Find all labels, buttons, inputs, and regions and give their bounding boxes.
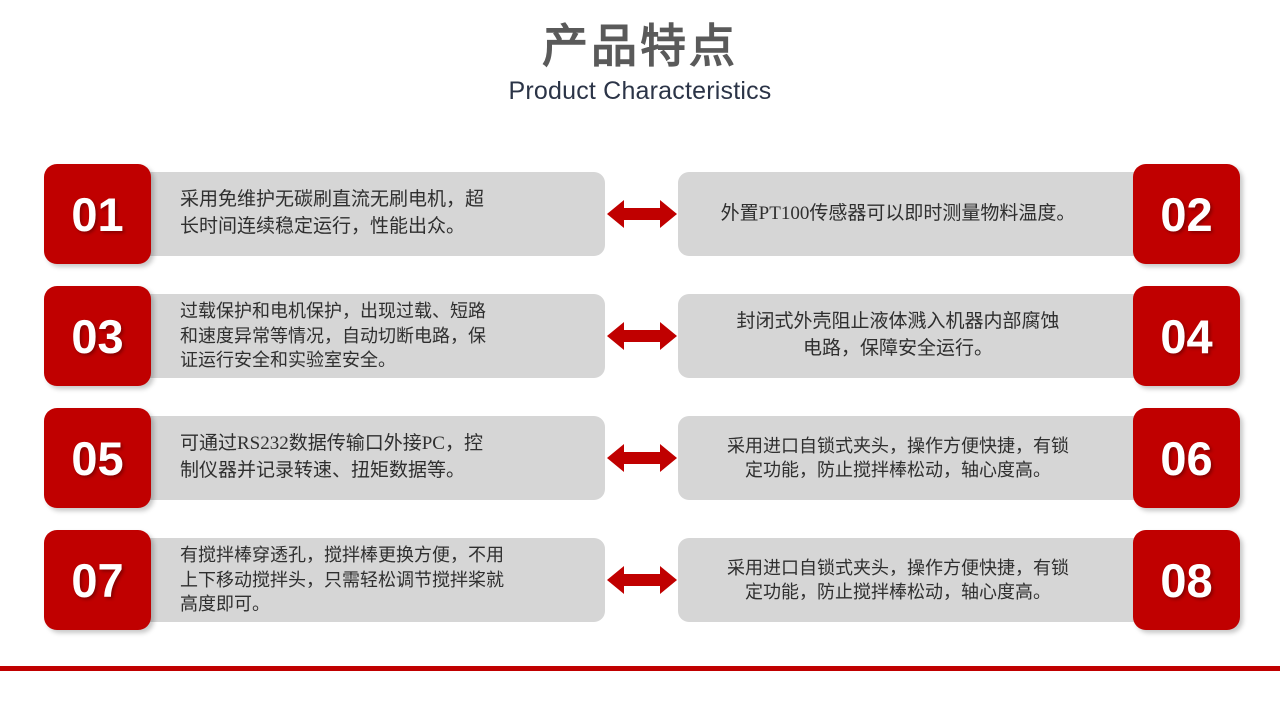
feature-card-03[interactable]: 过载保护和电机保护，出现过载、短路 和速度异常等情况，自动切断电路，保 证运行安…	[44, 286, 605, 386]
feature-card-07[interactable]: 有搅拌棒穿透孔，搅拌棒更换方便，不用 上下移动搅拌头，只需轻松调节搅拌桨就 高度…	[44, 530, 605, 630]
feature-number: 03	[71, 313, 123, 360]
feature-list: 采用免维护无碳刷直流无刷电机，超 长时间连续稳定运行，性能出众。 01 外置PT…	[0, 164, 1280, 652]
double-arrow-icon	[607, 564, 677, 596]
feature-number: 08	[1160, 557, 1212, 604]
feature-panel: 采用进口自锁式夹头，操作方便快捷，有锁 定功能，防止搅拌棒松动，轴心度高。	[678, 538, 1180, 622]
feature-number-badge[interactable]: 08	[1133, 530, 1240, 630]
feature-text: 采用进口自锁式夹头，操作方便快捷，有锁 定功能，防止搅拌棒松动，轴心度高。	[727, 556, 1069, 605]
feature-panel: 封闭式外壳阻止液体溅入机器内部腐蚀 电路，保障安全运行。	[678, 294, 1180, 378]
slide-header: 产品特点 Product Characteristics	[0, 0, 1280, 140]
feature-panel: 外置PT100传感器可以即时测量物料温度。	[678, 172, 1180, 256]
footer-divider	[0, 666, 1280, 671]
feature-row: 过载保护和电机保护，出现过载、短路 和速度异常等情况，自动切断电路，保 证运行安…	[0, 286, 1280, 386]
feature-card-06[interactable]: 采用进口自锁式夹头，操作方便快捷，有锁 定功能，防止搅拌棒松动，轴心度高。 06	[678, 408, 1240, 508]
feature-number-badge[interactable]: 05	[44, 408, 151, 508]
feature-number: 01	[71, 191, 123, 238]
feature-text: 采用免维护无碳刷直流无刷电机，超 长时间连续稳定运行，性能出众。	[180, 187, 484, 241]
feature-row: 有搅拌棒穿透孔，搅拌棒更换方便，不用 上下移动搅拌头，只需轻松调节搅拌桨就 高度…	[0, 530, 1280, 630]
feature-card-04[interactable]: 封闭式外壳阻止液体溅入机器内部腐蚀 电路，保障安全运行。 04	[678, 286, 1240, 386]
feature-card-08[interactable]: 采用进口自锁式夹头，操作方便快捷，有锁 定功能，防止搅拌棒松动，轴心度高。 08	[678, 530, 1240, 630]
double-arrow-icon	[607, 320, 677, 352]
feature-text: 可通过RS232数据传输口外接PC，控 制仪器并记录转速、扭矩数据等。	[180, 431, 483, 485]
feature-panel: 有搅拌棒穿透孔，搅拌棒更换方便，不用 上下移动搅拌头，只需轻松调节搅拌桨就 高度…	[104, 538, 605, 622]
feature-card-05[interactable]: 可通过RS232数据传输口外接PC，控 制仪器并记录转速、扭矩数据等。 05	[44, 408, 605, 508]
page-title: 产品特点	[0, 0, 1280, 72]
feature-card-01[interactable]: 采用免维护无碳刷直流无刷电机，超 长时间连续稳定运行，性能出众。 01	[44, 164, 605, 264]
feature-number: 05	[71, 435, 123, 482]
feature-number: 06	[1160, 435, 1212, 482]
feature-number-badge[interactable]: 03	[44, 286, 151, 386]
feature-row: 可通过RS232数据传输口外接PC，控 制仪器并记录转速、扭矩数据等。 05 采…	[0, 408, 1280, 508]
feature-text: 外置PT100传感器可以即时测量物料温度。	[721, 201, 1076, 228]
feature-text: 封闭式外壳阻止液体溅入机器内部腐蚀 电路，保障安全运行。	[736, 309, 1059, 363]
feature-text: 有搅拌棒穿透孔，搅拌棒更换方便，不用 上下移动搅拌头，只需轻松调节搅拌桨就 高度…	[180, 543, 504, 616]
feature-number: 02	[1160, 191, 1212, 238]
feature-panel: 采用免维护无碳刷直流无刷电机，超 长时间连续稳定运行，性能出众。	[104, 172, 605, 256]
feature-panel: 采用进口自锁式夹头，操作方便快捷，有锁 定功能，防止搅拌棒松动，轴心度高。	[678, 416, 1180, 500]
feature-text: 采用进口自锁式夹头，操作方便快捷，有锁 定功能，防止搅拌棒松动，轴心度高。	[727, 434, 1069, 483]
feature-card-02[interactable]: 外置PT100传感器可以即时测量物料温度。 02	[678, 164, 1240, 264]
double-arrow-icon	[607, 442, 677, 474]
feature-panel: 过载保护和电机保护，出现过载、短路 和速度异常等情况，自动切断电路，保 证运行安…	[104, 294, 605, 378]
feature-panel: 可通过RS232数据传输口外接PC，控 制仪器并记录转速、扭矩数据等。	[104, 416, 605, 500]
feature-number-badge[interactable]: 07	[44, 530, 151, 630]
feature-text: 过载保护和电机保护，出现过载、短路 和速度异常等情况，自动切断电路，保 证运行安…	[180, 299, 486, 372]
double-arrow-icon	[607, 198, 677, 230]
feature-number-badge[interactable]: 02	[1133, 164, 1240, 264]
feature-number: 07	[71, 557, 123, 604]
feature-row: 采用免维护无碳刷直流无刷电机，超 长时间连续稳定运行，性能出众。 01 外置PT…	[0, 164, 1280, 264]
feature-number-badge[interactable]: 01	[44, 164, 151, 264]
feature-number-badge[interactable]: 06	[1133, 408, 1240, 508]
feature-number: 04	[1160, 313, 1212, 360]
page-subtitle: Product Characteristics	[0, 72, 1280, 106]
feature-number-badge[interactable]: 04	[1133, 286, 1240, 386]
